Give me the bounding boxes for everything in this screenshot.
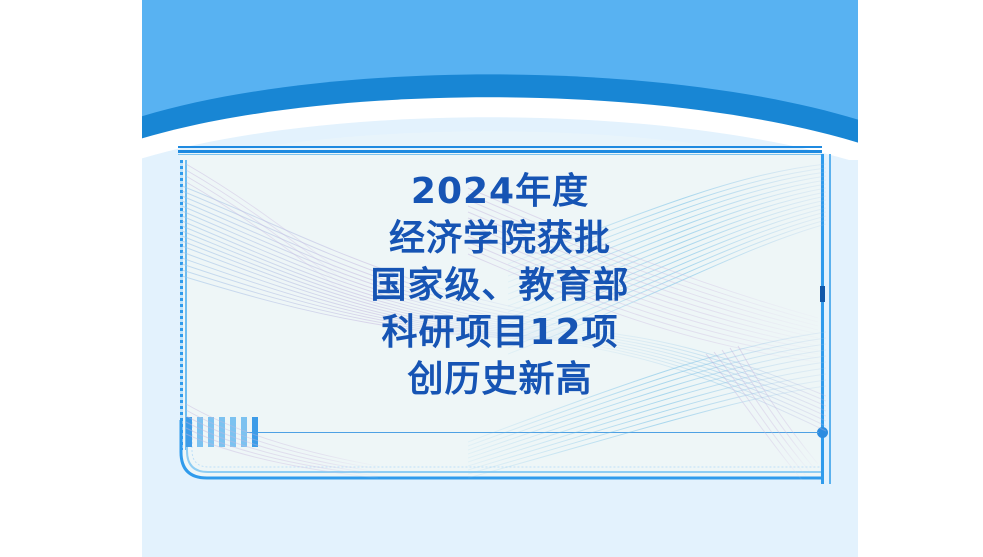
decor-bar-2 [197, 417, 203, 447]
top-banner-decoration [142, 0, 858, 160]
slide-title: 2024年度 经济学院获批 国家级、教育部 科研项目12项 创历史新高 [142, 168, 858, 403]
decor-bar-5 [230, 417, 236, 447]
decor-bar-4 [219, 417, 225, 447]
horizontal-accent-line [246, 432, 819, 433]
title-line-5: 创历史新高 [142, 356, 858, 403]
title-line-4: 科研项目12项 [142, 309, 858, 356]
decor-bar-7 [252, 417, 258, 447]
frame-top-border-line-1 [178, 146, 822, 148]
decor-bar-1 [186, 417, 192, 447]
decor-bar-3 [208, 417, 214, 447]
frame-top-border-line-3 [178, 154, 822, 155]
vertical-bars-decoration [186, 417, 258, 447]
decor-bar-6 [241, 417, 247, 447]
slide-canvas: 2024年度 经济学院获批 国家级、教育部 科研项目12项 创历史新高 [142, 0, 858, 557]
title-line-1: 2024年度 [142, 168, 858, 215]
frame-top-border-line-2 [178, 150, 822, 153]
slide-stage: 2024年度 经济学院获批 国家级、教育部 科研项目12项 创历史新高 [0, 0, 983, 557]
title-line-3: 国家级、教育部 [142, 262, 858, 309]
title-line-2: 经济学院获批 [142, 215, 858, 262]
